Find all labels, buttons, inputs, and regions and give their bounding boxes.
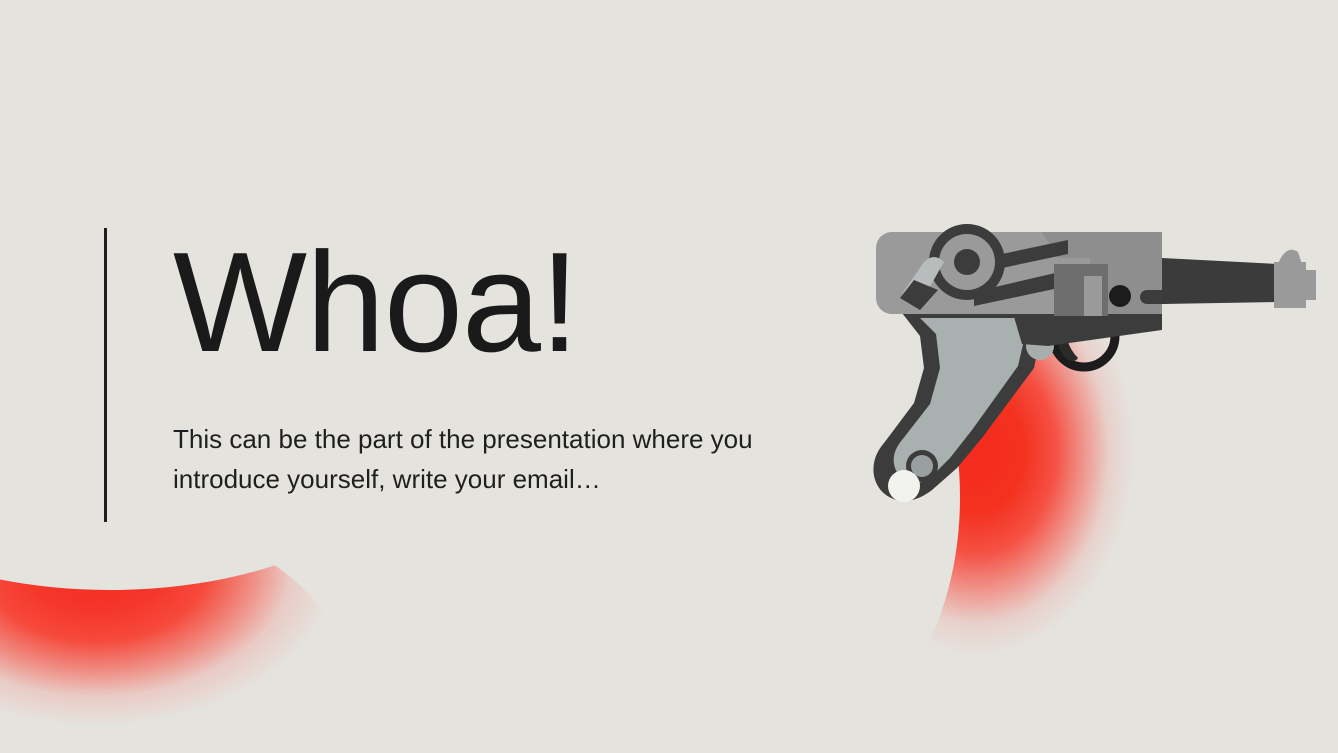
luger-pistol-illustration [862,218,1322,518]
muzzle-block [1274,262,1306,308]
page-title: Whoa! [173,232,798,374]
front-sight [1278,250,1302,264]
toggle-knob-center [954,249,980,275]
grip-screw-inner [911,455,933,477]
muzzle-crown [1302,270,1316,300]
receiver-notch [1084,276,1102,316]
barrel [1162,258,1278,304]
ejection-port [1109,285,1131,307]
vertical-rule [104,228,107,522]
lanyard-pin [888,470,920,502]
slide-subtitle: This can be the part of the presentation… [173,420,798,499]
red-gradient-blob [0,528,330,753]
slide-text-block: Whoa! This can be the part of the presen… [104,228,804,522]
presentation-slide: Whoa! This can be the part of the presen… [0,0,1338,753]
